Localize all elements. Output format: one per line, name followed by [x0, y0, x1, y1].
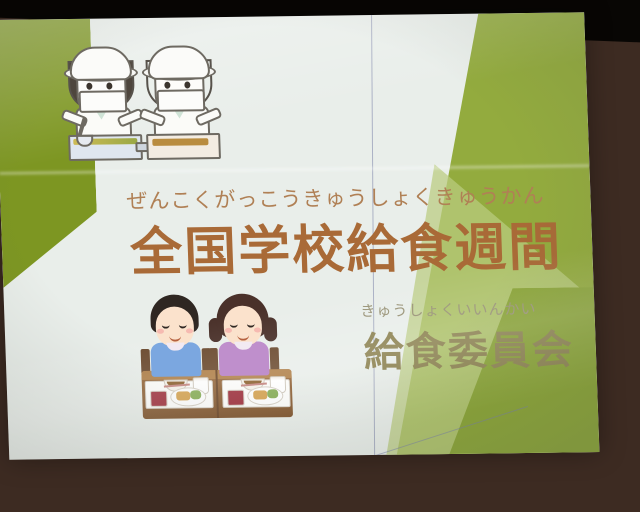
- fried-food: [176, 391, 190, 400]
- subtitle: 給食委員会: [363, 317, 575, 378]
- serving-tray: [146, 133, 221, 160]
- lunch-tray-right: [222, 379, 291, 408]
- jelly-cup: [227, 390, 245, 406]
- projected-slide-wrapper: ぜんこくがっこうきゅうしょくきゅうかん 全国学校給食週間: [0, 12, 599, 459]
- eye-right: [184, 81, 190, 88]
- presentation-slide: ぜんこくがっこうきゅうしょくきゅうかん 全国学校給食週間: [0, 12, 599, 459]
- child-girl: [209, 291, 278, 384]
- projection-photo: ぜんこくがっこうきゅうしょくきゅうかん 全国学校給食週間: [0, 0, 640, 512]
- cheek-right: [254, 327, 261, 332]
- vegetable-side: [190, 390, 201, 399]
- face-mask: [79, 90, 128, 113]
- face-mask: [157, 89, 206, 112]
- lunch-cap: [69, 46, 132, 81]
- cheek-right: [186, 328, 193, 333]
- illustration-lunch-servers: [61, 37, 225, 157]
- vegetable-side: [267, 389, 278, 398]
- eye-right: [106, 82, 112, 89]
- child-boy: [141, 292, 210, 385]
- page-title: 全国学校給食週間: [129, 205, 564, 286]
- tray-food: [152, 138, 208, 146]
- eye-left: [164, 82, 170, 89]
- eye-left: [86, 83, 92, 90]
- fried-food: [253, 390, 267, 399]
- server-child-right: [139, 37, 219, 156]
- cheek-left: [157, 329, 164, 334]
- illustration-children-eating: [139, 291, 294, 423]
- cheek-left: [225, 328, 232, 333]
- jelly-cup: [150, 391, 168, 407]
- server-child-left: [61, 38, 141, 157]
- lunch-tray-left: [145, 380, 214, 409]
- lunch-cap: [147, 45, 210, 80]
